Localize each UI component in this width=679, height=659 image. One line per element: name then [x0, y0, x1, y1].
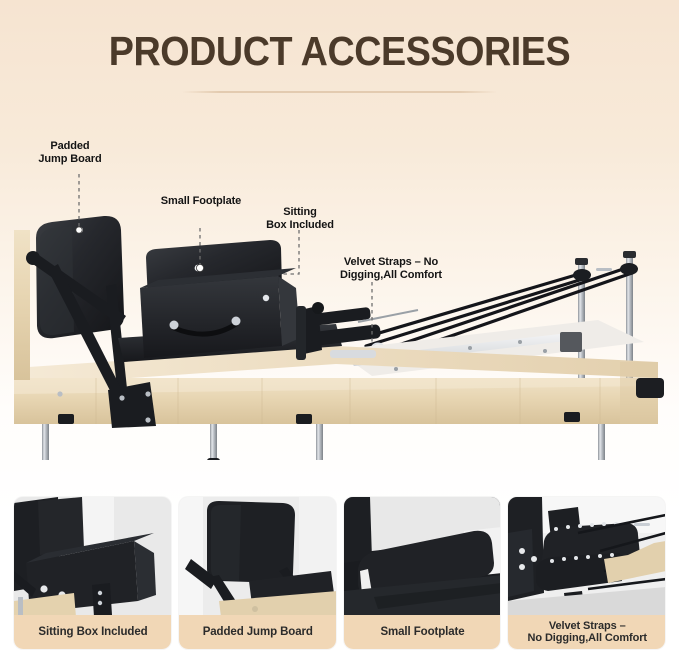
- thumbnail-card-sitting-box[interactable]: Sitting Box Included: [14, 497, 171, 649]
- callout-sitting-box: Sitting Box Included: [250, 206, 350, 232]
- callout-padded-jump-board: Padded Jump Board: [14, 140, 126, 166]
- callout-velvet-straps: Velvet Straps – No Digging,All Comfort: [312, 256, 470, 282]
- thumbnail-caption-padded-jump-board: Padded Jump Board: [179, 615, 336, 649]
- thumbnail-strip: Sitting Box Included Padd: [14, 497, 665, 649]
- thumbnail-card-small-footplate[interactable]: Small Footplate: [344, 497, 501, 649]
- page-title: PRODUCT ACCESSORIES: [27, 28, 652, 75]
- thumbnail-image-velvet-straps: [508, 497, 665, 617]
- thumbnail-image-small-footplate: [344, 497, 501, 617]
- callout-small-footplate: Small Footplate: [141, 195, 261, 208]
- thumbnail-image-padded-jump-board: [179, 497, 336, 617]
- leader-sitting-box: [281, 230, 299, 274]
- product-accessories-infographic: PRODUCT ACCESSORIES: [0, 0, 679, 659]
- thumbnail-card-padded-jump-board[interactable]: Padded Jump Board: [179, 497, 336, 649]
- thumbnail-caption-sitting-box: Sitting Box Included: [14, 615, 171, 649]
- thumbnail-caption-small-footplate: Small Footplate: [344, 615, 501, 649]
- thumbnail-caption-velvet-straps: Velvet Straps – No Digging,All Comfort: [508, 615, 665, 649]
- title-divider: [182, 91, 497, 93]
- thumbnail-card-velvet-straps[interactable]: Velvet Straps – No Digging,All Comfort: [508, 497, 665, 649]
- thumbnail-image-sitting-box: [14, 497, 171, 617]
- leader-end-dots: [76, 227, 204, 272]
